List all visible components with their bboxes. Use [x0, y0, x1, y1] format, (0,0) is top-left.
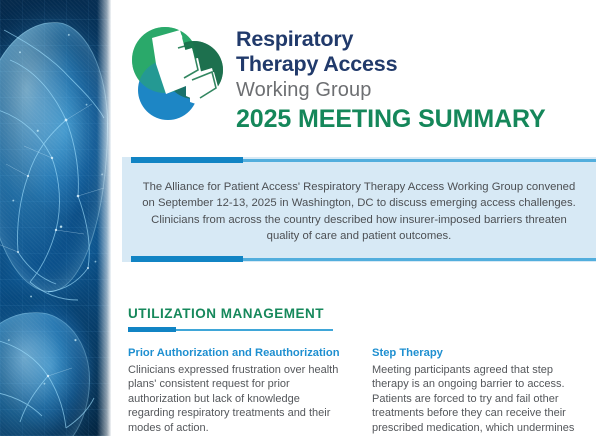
column-body: Meeting participants agreed that step th…	[372, 363, 586, 436]
summary-rule-bottom	[131, 256, 596, 262]
lung-texture-overlay	[0, 0, 111, 436]
lung-illustration-panel	[0, 0, 111, 436]
meeting-summary-page: Respiratory Therapy Access Working Group…	[0, 0, 606, 436]
summary-callout: The Alliance for Patient Access' Respira…	[122, 157, 596, 262]
article-columns: Prior Authorization and Reauthorization …	[128, 347, 586, 436]
summary-rule-top	[131, 157, 596, 163]
organization-logo-icon	[128, 24, 230, 126]
section-heading: UTILIZATION MANAGEMENT	[128, 306, 548, 322]
section-underline-dark	[128, 327, 176, 332]
summary-rule-bottom-dark	[131, 256, 243, 262]
report-title: 2025 MEETING SUMMARY	[236, 104, 596, 134]
section-underline-light	[176, 329, 333, 332]
lung-edge-fade	[97, 0, 111, 436]
column-step-therapy: Step Therapy Meeting participants agreed…	[372, 347, 586, 436]
column-prior-authorization: Prior Authorization and Reauthorization …	[128, 347, 342, 436]
column-heading: Prior Authorization and Reauthorization	[128, 347, 342, 361]
column-body: Clinicians expressed frustration over he…	[128, 363, 342, 436]
section-underline	[128, 327, 333, 333]
summary-paragraph: The Alliance for Patient Access' Respira…	[136, 179, 582, 245]
wordmark-line-3: Working Group	[236, 77, 596, 103]
summary-rule-top-dark	[131, 157, 243, 163]
wordmark-line-2: Therapy Access	[236, 52, 596, 77]
wordmark-line-1: Respiratory	[236, 27, 596, 52]
summary-rule-top-light	[243, 159, 596, 162]
wordmark: Respiratory Therapy Access Working Group…	[236, 27, 596, 134]
summary-rule-bottom-light	[243, 258, 596, 261]
column-heading: Step Therapy	[372, 347, 586, 361]
section-title: UTILIZATION MANAGEMENT	[128, 306, 548, 322]
